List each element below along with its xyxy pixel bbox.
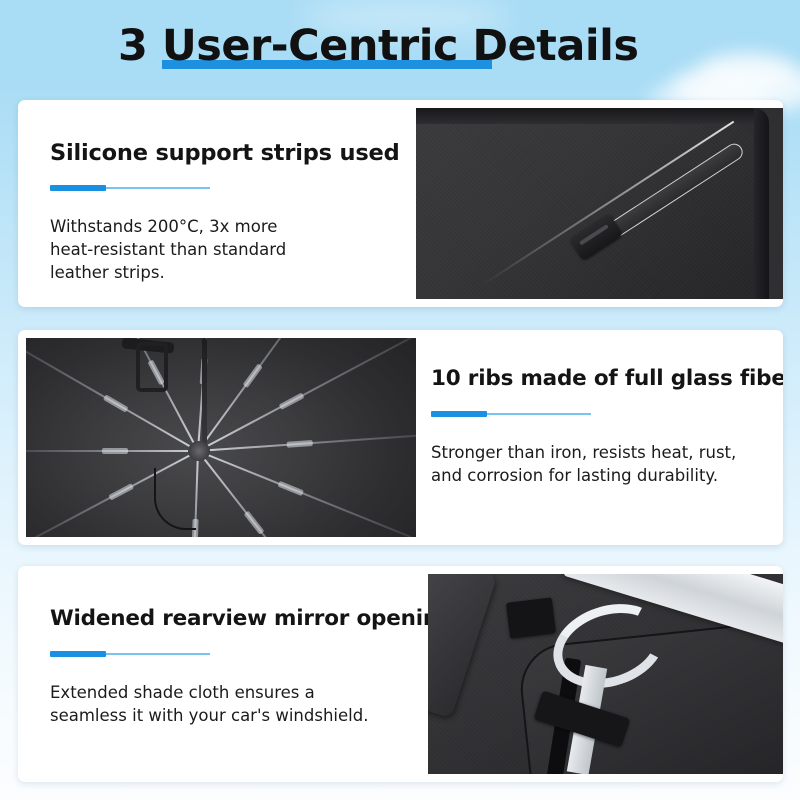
card-2-title: 10 ribs made of full glass fiber [431, 364, 783, 394]
divider-thin-segment [106, 653, 210, 655]
card-3-photo-mirror-opening [428, 574, 783, 774]
sunshade-right-edge [754, 108, 769, 299]
card-3-divider [50, 651, 210, 657]
feature-card-1: Silicone support strips used Withstands … [18, 100, 783, 307]
infographic-page: 3 User-Centric Details Silicone support … [0, 0, 800, 800]
card-2-photo-umbrella-ribs [26, 338, 416, 537]
card-2-divider [431, 411, 591, 417]
divider-strong-segment [50, 651, 106, 657]
sunshade-panel [416, 114, 766, 299]
card-3-text-pane: Widened rearview mirror opening Extended… [18, 566, 428, 782]
feature-card-2: 10 ribs made of full glass fiber Stronge… [18, 330, 783, 545]
page-title: 3 User-Centric Details [118, 18, 638, 74]
card-1-body: Withstands 200°C, 3x more heat-resistant… [50, 215, 315, 284]
umbrella-hub [188, 441, 210, 461]
velcro-patch-upper [506, 597, 556, 638]
card-3-title: Widened rearview mirror opening [50, 604, 428, 634]
title-wrap: 3 User-Centric Details [118, 18, 638, 74]
feature-card-3: Widened rearview mirror opening Extended… [18, 566, 783, 782]
card-2-body: Stronger than iron, resists heat, rust, … [431, 441, 761, 487]
card-3-body: Extended shade cloth ensures a seamless … [50, 681, 370, 727]
umbrella-handle [136, 342, 168, 392]
divider-strong-segment [431, 411, 487, 417]
divider-thin-segment [106, 187, 210, 189]
umbrella-rib [26, 450, 198, 452]
card-1-text-pane: Silicone support strips used Withstands … [18, 100, 416, 307]
umbrella-shaft [202, 338, 207, 454]
sunshade-top-edge [416, 108, 766, 124]
card-1-divider [50, 185, 210, 191]
page-header: 3 User-Centric Details [0, 18, 800, 80]
divider-thin-segment [487, 413, 591, 415]
divider-strong-segment [50, 185, 106, 191]
card-1-photo-sunshade-silicone-strip [416, 108, 783, 299]
card-1-title: Silicone support strips used [50, 138, 416, 168]
card-2-text-pane: 10 ribs made of full glass fiber Stronge… [423, 330, 783, 545]
